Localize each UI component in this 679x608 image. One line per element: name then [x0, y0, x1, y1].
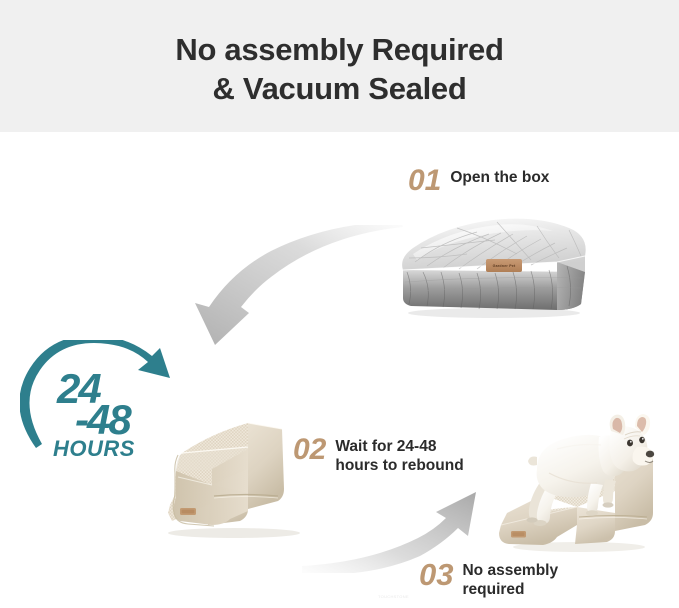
step-02-label: 02 Wait for 24-48 hours to rebound [293, 435, 464, 476]
flow-arrow-1-icon [175, 225, 405, 350]
page-title: No assembly Required & Vacuum Sealed [0, 30, 679, 109]
step-03-label: 03 No assembly required [419, 559, 558, 600]
foam-pet-stairs-image [152, 393, 312, 538]
step-01-label: 01 Open the box [408, 166, 549, 196]
title-line-2: & Vacuum Sealed [0, 69, 679, 108]
package-brand-label: Gardner Pet [486, 259, 522, 272]
step-02-number: 02 [293, 435, 326, 465]
step-01-text: Open the box [450, 166, 549, 188]
step-03-number: 03 [419, 559, 453, 590]
title-line-1: No assembly Required [175, 32, 503, 67]
dog-on-stairs-image [487, 413, 662, 553]
step-01-number: 01 [408, 166, 441, 196]
badge-unit-label: HOURS [53, 436, 135, 462]
stairs-brand-tag-2 [511, 531, 526, 538]
stairs-brand-tag [180, 508, 196, 515]
watermark-text: TOUCHSTONE [378, 594, 409, 599]
step-02-text: Wait for 24-48 hours to rebound [335, 435, 463, 476]
step-03-text: No assembly required [462, 559, 558, 600]
vacuum-sealed-package-image: Gardner Pet [397, 214, 591, 318]
